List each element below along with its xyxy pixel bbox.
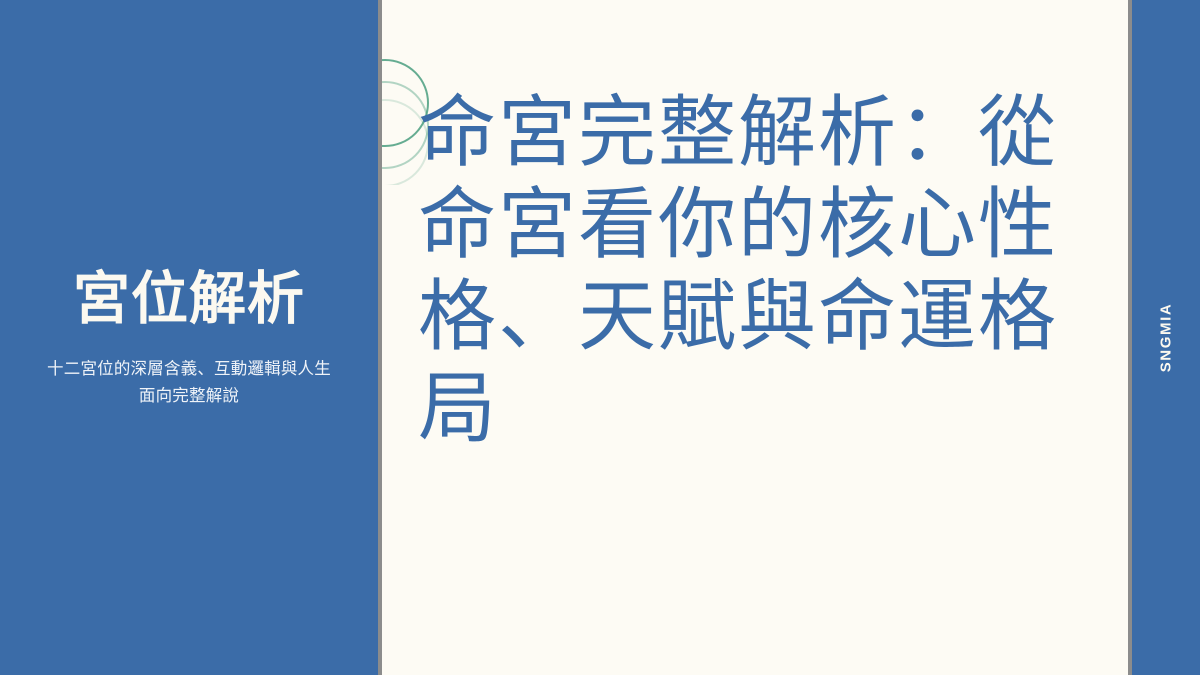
slide-canvas: 宮位解析 十二宮位的深層含義、互動邏輯與人生面向完整解說 命宮完整解析：從命宮看… <box>0 0 1200 675</box>
main-headline: 命宮完整解析：從命宮看你的核心性格、天賦與命運格局 <box>418 86 1108 454</box>
brand-label: SNGMIA <box>1158 303 1175 373</box>
panel-subtitle: 十二宮位的深層含義、互動邏輯與人生面向完整解說 <box>39 356 339 409</box>
panel-title: 宮位解析 <box>73 266 305 332</box>
left-panel: 宮位解析 十二宮位的深層含義、互動邏輯與人生面向完整解說 <box>0 0 378 675</box>
divider-left <box>378 0 382 675</box>
right-strip: SNGMIA <box>1132 0 1200 675</box>
divider-right <box>1128 0 1132 675</box>
